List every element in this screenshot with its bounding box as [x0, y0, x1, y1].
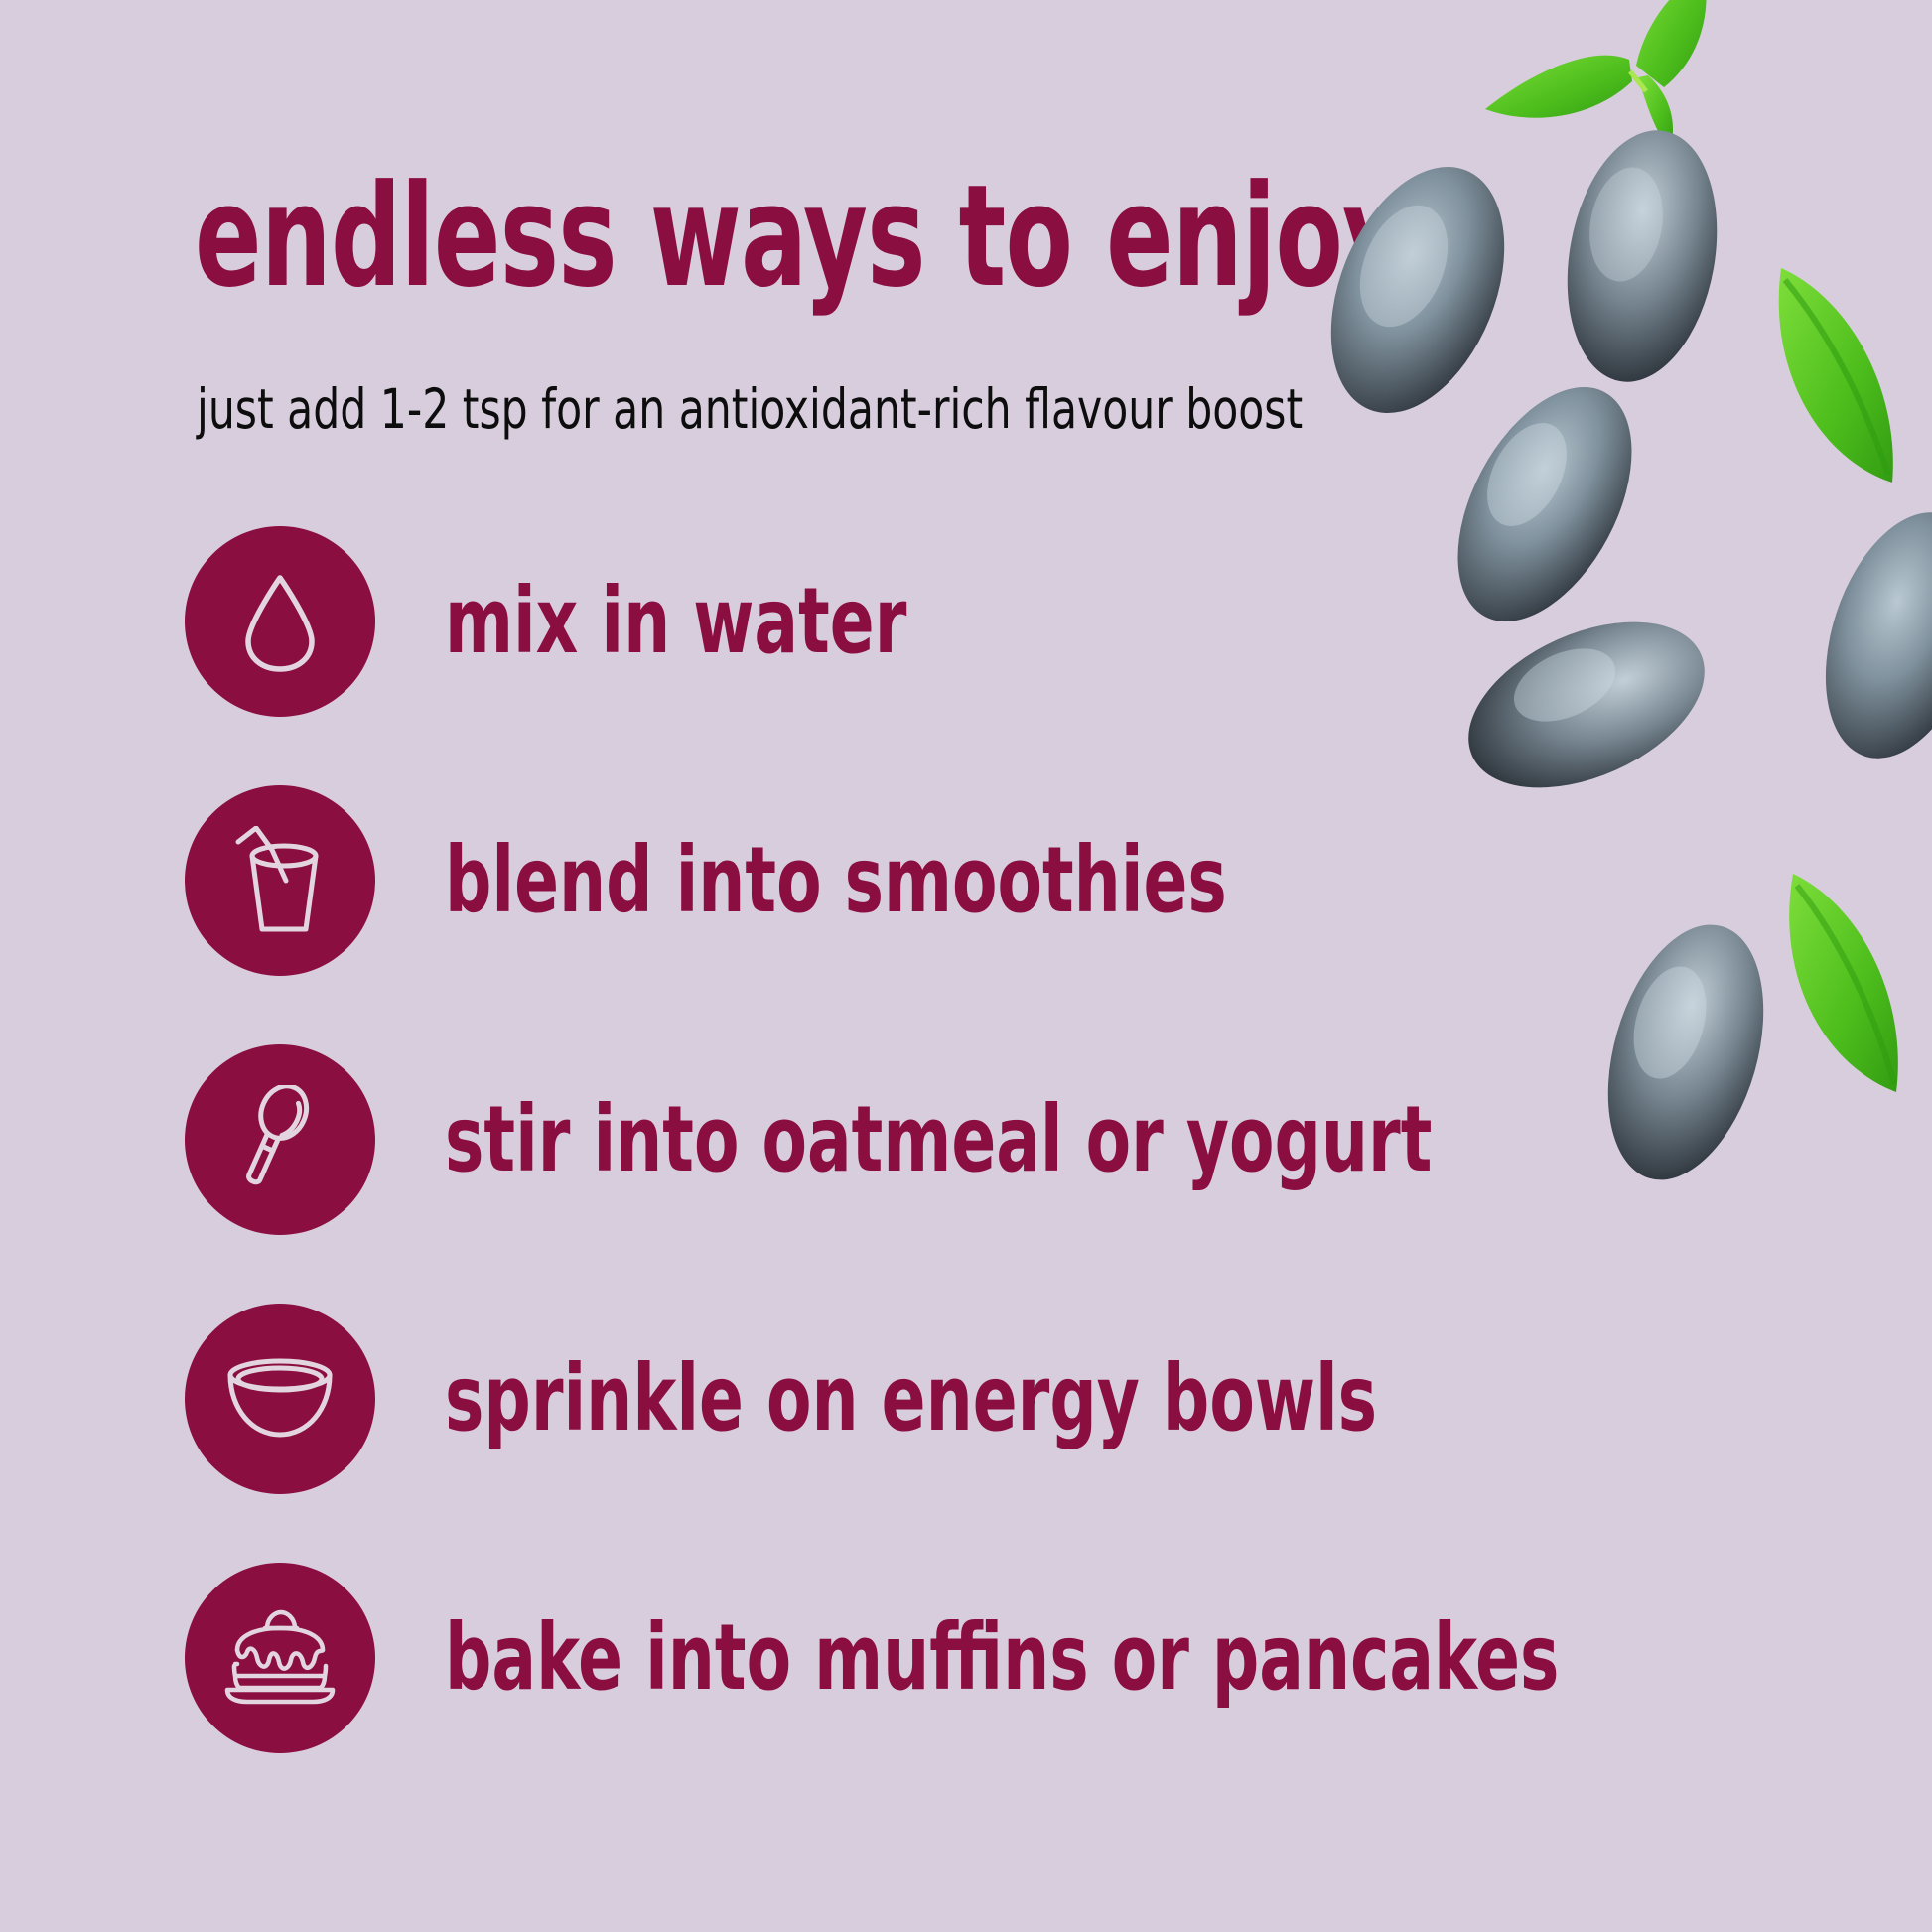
list-item-label: mix in water — [445, 576, 906, 667]
leaf-lower-right — [1789, 874, 1898, 1092]
list-item: sprinkle on energy bowls — [185, 1304, 1475, 1494]
bowl-icon — [224, 1357, 336, 1441]
berry — [1549, 118, 1735, 393]
list-item-label: sprinkle on energy bowls — [445, 1353, 1377, 1445]
page-title: endless ways to enjoy — [195, 167, 1406, 308]
bowl-badge — [185, 1304, 375, 1494]
smoothie-glass-icon — [228, 826, 332, 935]
pancake-stack-icon — [223, 1608, 337, 1708]
water-drop-badge — [185, 526, 375, 717]
page-subtitle: just add 1-2 tsp for an antioxidant-rich… — [197, 382, 1303, 437]
list-item: stir into oatmeal or yogurt — [185, 1044, 1475, 1235]
pancake-stack-badge — [185, 1563, 375, 1753]
spoon-badge — [185, 1044, 375, 1235]
promo-poster: endless ways to enjoy just add 1-2 tsp f… — [0, 0, 1932, 1932]
list-item-label: blend into smoothies — [445, 835, 1227, 926]
spoon-icon — [228, 1085, 332, 1194]
smoothie-glass-badge — [185, 785, 375, 976]
berry — [1797, 492, 1932, 778]
leaf-mid-right — [1779, 268, 1893, 483]
list-item: mix in water — [185, 526, 1475, 717]
list-item-label: stir into oatmeal or yogurt — [445, 1094, 1432, 1185]
berry — [1444, 589, 1730, 821]
list-item: blend into smoothies — [185, 785, 1475, 976]
list-item-label: bake into muffins or pancakes — [445, 1612, 1559, 1704]
water-drop-icon — [240, 570, 320, 673]
berry — [1581, 906, 1790, 1197]
list-item: bake into muffins or pancakes — [185, 1563, 1475, 1753]
usage-list: mix in water blend into smoothies — [185, 526, 1475, 1822]
leaf-sprig-top — [1485, 0, 1707, 151]
